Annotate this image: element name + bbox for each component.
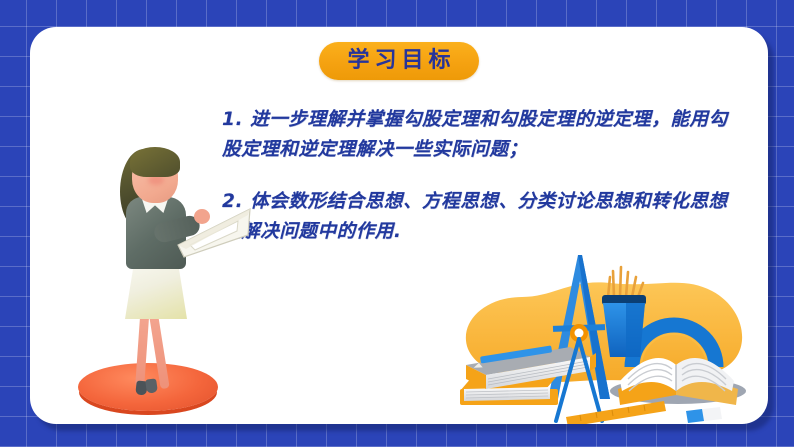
shoe-right [145,378,158,393]
title-pill: 学习目标 [319,42,479,80]
slide-canvas: 学习目标 1. 进一步理解并掌握勾股定理和勾股定理的逆定理，能用勾股定理和逆定理… [0,0,794,447]
study-supplies-illustration [450,239,760,424]
hair-top [130,147,180,177]
student-girl-illustration [70,145,250,424]
content-card: 学习目标 1. 进一步理解并掌握勾股定理和勾股定理的逆定理，能用勾股定理和逆定理… [30,27,768,424]
triangle-ruler-icon [174,205,254,263]
page-title: 学习目标 [342,50,455,72]
pencil-holder-icon [602,267,646,357]
objectives-list: 1. 进一步理解并掌握勾股定理和勾股定理的逆定理，能用勾股定理和逆定理解决一些实… [222,105,742,247]
objective-item-2: 2. 体会数形结合思想、方程思想、分类讨论思想和转化思想在解决问题中的作用. [222,187,742,247]
eraser-icon [686,407,722,423]
orange-ruler-icon [566,401,666,424]
objective-item-1: 1. 进一步理解并掌握勾股定理和勾股定理的逆定理，能用勾股定理和逆定理解决一些实… [222,105,742,165]
